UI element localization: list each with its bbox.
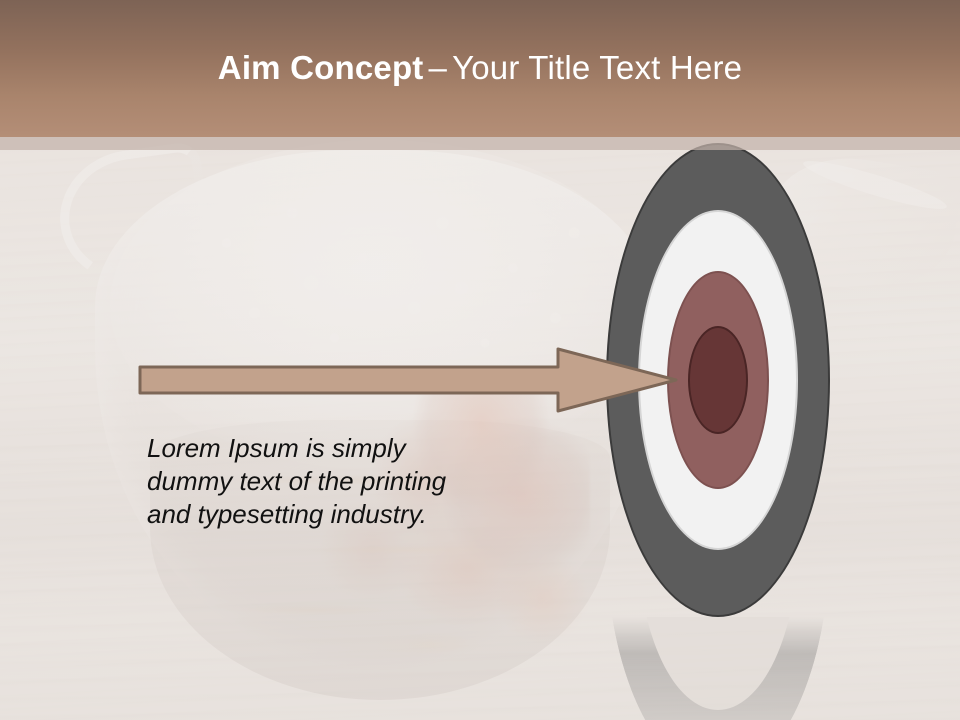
body-text-line-1: Lorem Ipsum is simply xyxy=(147,432,567,465)
body-text-block: Lorem Ipsum is simply dummy text of the … xyxy=(147,432,567,531)
slide-canvas: Aim Concept–Your Title Text Here Lorem I… xyxy=(0,0,960,720)
body-text-line-2: dummy text of the printing xyxy=(147,465,567,498)
page-title-strong: Aim Concept xyxy=(218,49,424,86)
body-text-line-3: and typesetting industry. xyxy=(147,498,567,531)
target-center-ring xyxy=(688,326,748,434)
header-under-band xyxy=(0,137,960,150)
pointer-arrow xyxy=(138,347,678,413)
page-title: Aim Concept–Your Title Text Here xyxy=(0,47,960,89)
target-reflection xyxy=(606,617,830,720)
pointer-arrow-shape xyxy=(138,347,678,413)
page-title-dash: – xyxy=(424,49,453,86)
page-title-rest: Your Title Text Here xyxy=(452,49,742,86)
